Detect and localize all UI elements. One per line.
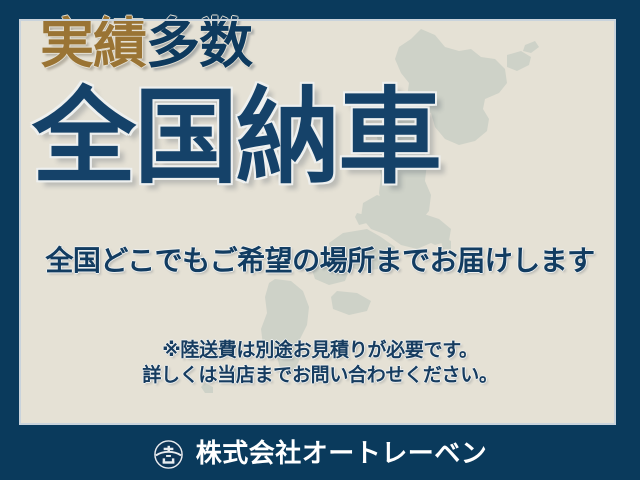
main-headline: 全国納車 bbox=[32, 85, 440, 189]
banner-content: 実績多数 全国納車 全国どこでもご希望の場所までお届けします ※陸送費は別途お見… bbox=[0, 0, 640, 480]
note-line-1: ※陸送費は別途お見積りが必要です。 bbox=[0, 338, 640, 363]
company-lockup: 株式会社オートレーベン bbox=[0, 428, 640, 480]
note-line-2: 詳しくは当店までお問い合わせください。 bbox=[0, 363, 640, 388]
eyebrow-navy-text: 多数 bbox=[146, 12, 252, 75]
delivery-promo-banner: 実績多数 全国納車 全国どこでもご希望の場所までお届けします ※陸送費は別途お見… bbox=[0, 0, 640, 480]
notes-block: ※陸送費は別途お見積りが必要です。 詳しくは当店までお問い合わせください。 bbox=[0, 338, 640, 388]
company-emblem-icon bbox=[153, 439, 184, 470]
eyebrow-headline: 実績多数 bbox=[40, 17, 252, 71]
sub-headline: 全国どこでもご希望の場所までお届けします bbox=[0, 247, 640, 275]
eyebrow-gold-text: 実績 bbox=[40, 12, 146, 75]
company-name: 株式会社オートレーベン bbox=[196, 441, 488, 467]
